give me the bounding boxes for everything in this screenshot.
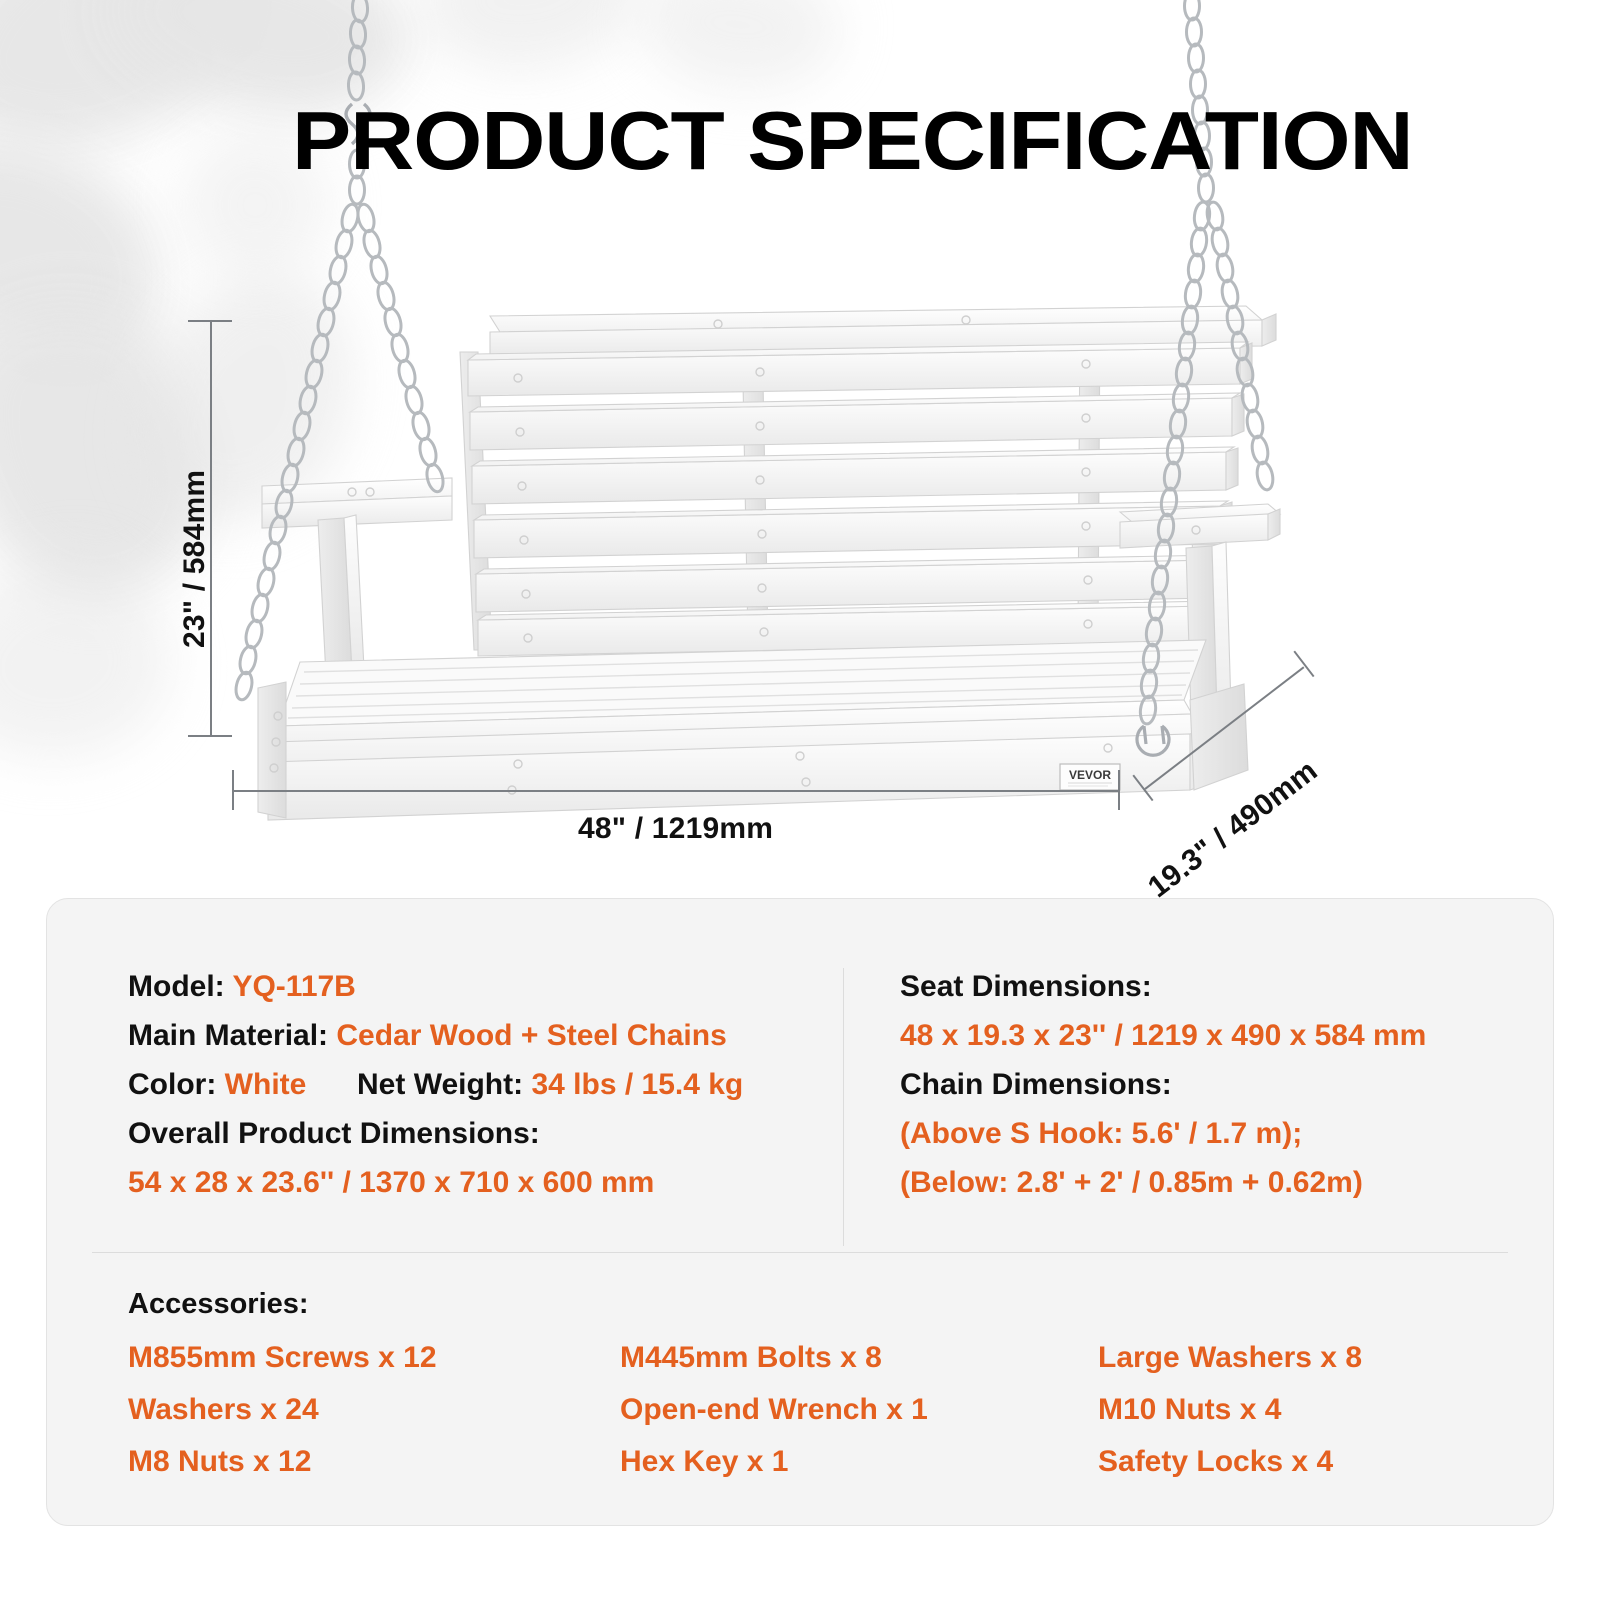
seat-dimensions-label: Seat Dimensions: <box>900 962 1500 1011</box>
accessory-item: Washers x 24 <box>128 1384 620 1436</box>
spec-column-left: Model: YQ-117B Main Material: Cedar Wood… <box>128 962 828 1207</box>
accessory-item: Hex Key x 1 <box>620 1436 1098 1488</box>
height-dimension-label: 23" / 584mm <box>178 470 212 648</box>
svg-text:VEVOR: VEVOR <box>1069 768 1111 782</box>
panel-horizontal-divider <box>92 1252 1508 1253</box>
spec-column-right: Seat Dimensions: 48 x 19.3 x 23'' / 1219… <box>900 962 1500 1207</box>
accessory-item: M8 Nuts x 12 <box>128 1436 620 1488</box>
accessory-item: Open-end Wrench x 1 <box>620 1384 1098 1436</box>
chain-dimensions-label: Chain Dimensions: <box>900 1060 1500 1109</box>
product-specification-page: VEVOR <box>0 0 1600 1600</box>
panel-vertical-divider <box>843 968 844 1246</box>
height-tick-top <box>188 320 232 322</box>
width-dimension-line <box>232 790 1120 792</box>
accessories-grid: M855mm Screws x 12 M445mm Bolts x 8 Larg… <box>128 1332 1468 1488</box>
accessory-item: M445mm Bolts x 8 <box>620 1332 1098 1384</box>
accessory-item: Large Washers x 8 <box>1098 1332 1468 1384</box>
accessory-item: M855mm Screws x 12 <box>128 1332 620 1384</box>
spec-row-color-weight: Color: White Net Weight: 34 lbs / 15.4 k… <box>128 1060 828 1109</box>
material-value: Cedar Wood + Steel Chains <box>336 1019 726 1052</box>
seat-dimensions-value: 48 x 19.3 x 23'' / 1219 x 490 x 584 mm <box>900 1011 1500 1060</box>
color-label: Color: <box>128 1068 216 1101</box>
net-weight-value: 34 lbs / 15.4 kg <box>531 1068 743 1101</box>
vevor-brand-plate: VEVOR <box>1060 764 1120 790</box>
width-dimension-label: 48" / 1219mm <box>578 812 773 846</box>
model-label: Model: <box>128 970 225 1003</box>
net-weight-label: Net Weight: <box>357 1068 523 1101</box>
spec-row-model: Model: YQ-117B <box>128 962 828 1011</box>
height-tick-bottom <box>188 735 232 737</box>
page-title: PRODUCT SPECIFICATION <box>292 98 1373 184</box>
material-label: Main Material: <box>128 1019 328 1052</box>
accessory-item: Safety Locks x 4 <box>1098 1436 1468 1488</box>
chain-dimensions-value-below: (Below: 2.8' + 2' / 0.85m + 0.62m) <box>900 1158 1500 1207</box>
color-value: White <box>225 1068 307 1101</box>
width-tick-right <box>1118 770 1120 810</box>
width-tick-left <box>232 770 234 810</box>
model-value: YQ-117B <box>232 970 355 1003</box>
overall-dimensions-label: Overall Product Dimensions: <box>128 1109 828 1158</box>
spec-row-material: Main Material: Cedar Wood + Steel Chains <box>128 1011 828 1060</box>
overall-dimensions-value: 54 x 28 x 23.6'' / 1370 x 710 x 600 mm <box>128 1158 828 1207</box>
chain-dimensions-value-above: (Above S Hook: 5.6' / 1.7 m); <box>900 1109 1500 1158</box>
accessory-item: M10 Nuts x 4 <box>1098 1384 1468 1436</box>
accessories-title: Accessories: <box>128 1288 309 1321</box>
